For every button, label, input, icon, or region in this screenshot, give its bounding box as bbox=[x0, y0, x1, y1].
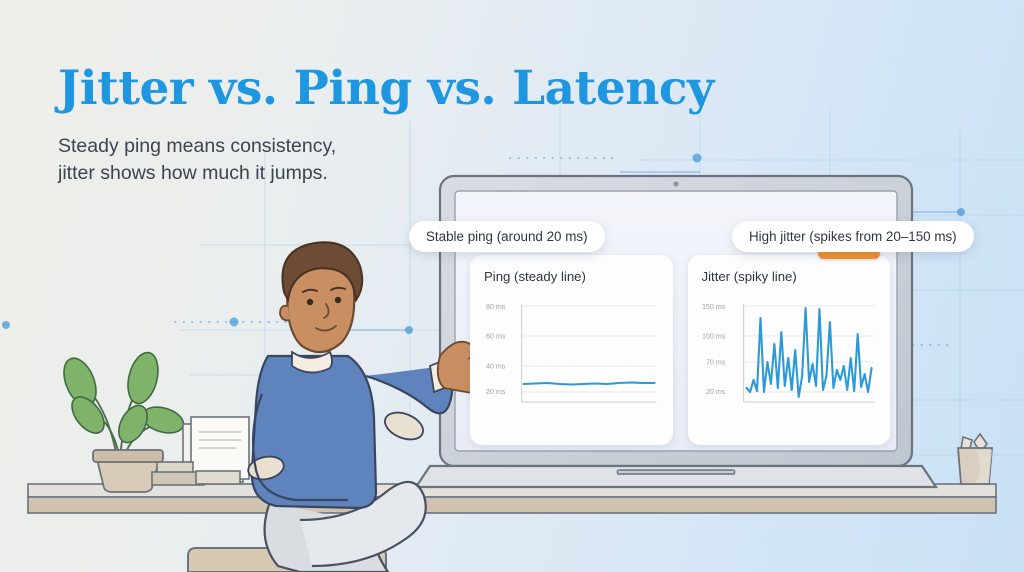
pencil-cup bbox=[958, 434, 992, 484]
ping-ytick-60: 60 ms bbox=[486, 333, 506, 341]
ping-chart: 80 ms 60 ms 40 ms 20 ms bbox=[482, 292, 661, 410]
ping-ytick-20: 20 ms bbox=[486, 388, 506, 396]
infographic-scene: Jitter vs. Ping vs. Latency Steady ping … bbox=[0, 0, 1024, 572]
card-jitter[interactable]: Jitter (spiky line) 150 ms 100 ms bbox=[688, 255, 891, 445]
jitter-ytick-70: 70 ms bbox=[705, 358, 725, 366]
card-ping[interactable]: Ping (steady line) 80 ms 60 ms bbox=[470, 255, 673, 445]
card-ping-title: Ping (steady line) bbox=[484, 269, 661, 284]
callout-stable-ping: Stable ping (around 20 ms) bbox=[409, 221, 605, 252]
jitter-ytick-20: 20 ms bbox=[705, 388, 725, 396]
ping-ytick-80: 80 ms bbox=[486, 303, 506, 311]
card-jitter-title: Jitter (spiky line) bbox=[702, 269, 879, 284]
jitter-chart: 150 ms 100 ms 70 ms 20 ms bbox=[700, 292, 879, 410]
jitter-ytick-150: 150 ms bbox=[701, 303, 725, 311]
callout-high-jitter: High jitter (spikes from 20–150 ms) bbox=[732, 221, 974, 252]
jitter-ytick-100: 100 ms bbox=[701, 333, 725, 341]
ping-ytick-40: 40 ms bbox=[486, 362, 506, 370]
jitter-axis-labels: 150 ms 100 ms 70 ms 20 ms bbox=[700, 292, 879, 410]
desk bbox=[28, 484, 996, 513]
screen-dashboard: Ping (steady line) 80 ms 60 ms bbox=[470, 255, 890, 445]
laptop-base bbox=[416, 466, 936, 487]
ping-axis-labels: 80 ms 60 ms 40 ms 20 ms bbox=[482, 292, 661, 410]
